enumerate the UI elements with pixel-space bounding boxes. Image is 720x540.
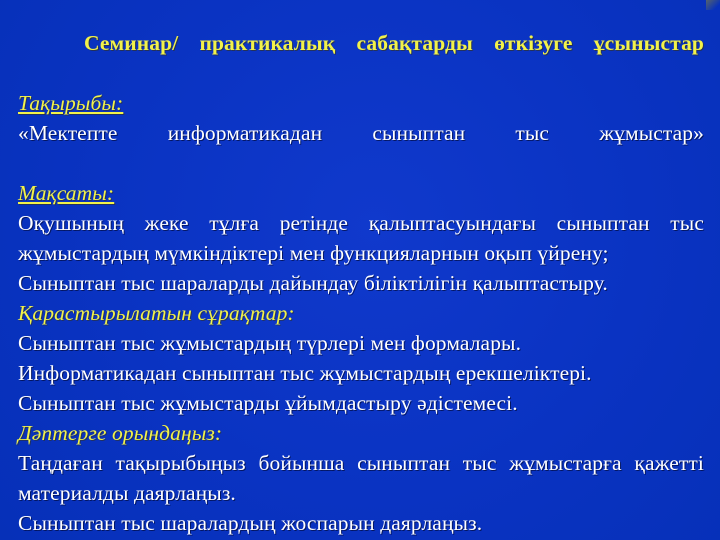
section-text-suraktar-line-2: Информатикадан сыныптан тыс жұмыстардың …: [18, 358, 704, 388]
presentation-slide: Семинар/ практикалық сабақтарды өткізуге…: [0, 0, 720, 540]
section-heading-karastyrylatyn-suraktar: Қарастырылатын сұрақтар:: [18, 298, 704, 328]
section-heading-maksaty: Мақсаты:: [18, 178, 704, 208]
section-text-takyryby-line-1: «Мектепте информатикадан сыныптан тыс жұ…: [18, 118, 704, 178]
section-heading-takyryby: Тақырыбы:: [18, 88, 704, 118]
section-text-dapterge-line-2: Сыныптан тыс шаралардың жоспарын даярлаң…: [18, 508, 704, 538]
section-text-suraktar-line-1: Сыныптан тыс жұмыстардың түрлері мен фор…: [18, 328, 704, 358]
section-text-dapterge-line-1: Таңдаған тақырыбыңыз бойынша сыныптан ты…: [18, 448, 704, 508]
corner-artifact: [706, 0, 720, 10]
slide-content-block: Семинар/ практикалық сабақтарды өткізуге…: [18, 28, 704, 538]
section-text-maksaty-line-1: Оқушының жеке тұлға ретінде қалыптасуынд…: [18, 208, 704, 268]
section-heading-dapterge-oryndanyz: Дәптерге орындаңыз:: [18, 418, 704, 448]
section-text-suraktar-line-3: Сыныптан тыс жұмыстарды ұйымдастыру әдіс…: [18, 388, 704, 418]
slide-title: Семинар/ практикалық сабақтарды өткізуге…: [18, 28, 704, 88]
section-text-maksaty-line-2: Сыныптан тыс шараларды дайындау біліктіл…: [18, 268, 704, 298]
